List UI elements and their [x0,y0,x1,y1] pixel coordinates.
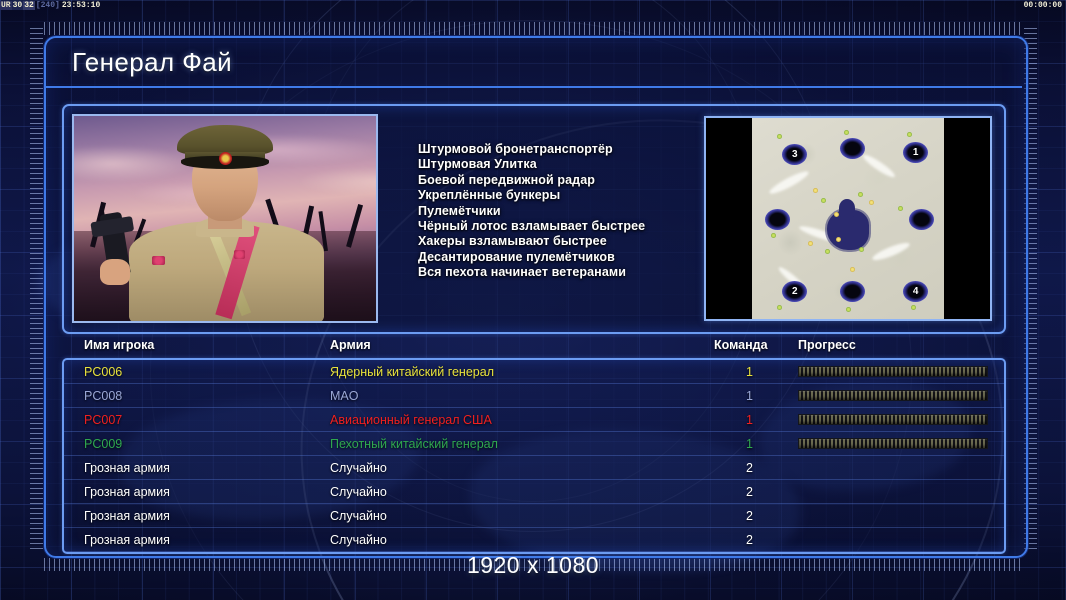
ability-item: Штурмовой бронетранспортёр [418,142,698,157]
player-progress-bar [798,414,988,425]
debug-value-2: 32 [23,1,35,10]
player-team: 2 [746,461,753,475]
player-table: PC006Ядерный китайский генерал1PC008MAO1… [62,358,1006,554]
player-progress-bar [798,390,988,401]
map-resource-node [821,198,826,203]
debug-bracket: [240] [35,1,61,10]
table-row[interactable]: Грозная армияСлучайно2 [64,528,1004,552]
map-start-position [909,209,934,230]
map-resource-node [825,249,830,254]
ability-item: Чёрный лотос взламывает быстрее [418,219,698,234]
map-start-position [840,281,865,302]
player-team: 2 [746,533,753,547]
map-start-position: 3 [782,144,807,165]
ability-item: Штурмовая Улитка [418,157,698,172]
debug-value-1: 30 [12,1,24,10]
debug-right-clock: 00:00:00 [1024,0,1062,11]
map-start-position: 2 [782,281,807,302]
ability-item: Вся пехота начинает ветеранами [418,265,698,280]
column-header-name: Имя игрока [84,338,154,352]
map-start-position [765,209,790,230]
table-row[interactable]: PC007Авиационный генерал США1 [64,408,1004,432]
player-name: PC007 [84,413,122,427]
ability-item: Укреплённые бункеры [418,188,698,203]
player-progress-bar [798,438,988,449]
player-army: Ядерный китайский генерал [330,365,494,379]
debug-prefix: UR [0,1,12,10]
resolution-label: 1920 x 1080 [0,552,1066,579]
ability-item: Боевой передвижной радар [418,173,698,188]
debug-clock: 23:53:10 [61,1,101,10]
player-army: MAO [330,389,358,403]
player-army: Случайно [330,461,387,475]
player-army: Случайно [330,509,387,523]
player-team: 1 [746,365,753,379]
general-abilities-list: Штурмовой бронетранспортёр Штурмовая Ули… [418,142,698,281]
map-center-feature [827,210,869,250]
player-army: Пехотный китайский генерал [330,437,498,451]
player-team: 2 [746,509,753,523]
map-resource-node [907,132,912,137]
player-army: Случайно [330,485,387,499]
general-portrait [72,114,378,323]
player-team: 2 [746,485,753,499]
player-name: PC008 [84,389,122,403]
table-row[interactable]: PC009Пехотный китайский генерал1 [64,432,1004,456]
map-resource-node [869,200,874,205]
table-row[interactable]: PC006Ядерный китайский генерал1 [64,360,1004,384]
map-resource-node [859,247,864,252]
table-row[interactable]: PC008MAO1 [64,384,1004,408]
column-header-progress: Прогресс [798,338,856,352]
ability-item: Хакеры взламывают быстрее [418,234,698,249]
map-resource-node [858,192,863,197]
player-progress-bar [798,366,988,377]
portrait-medal [152,256,165,265]
column-header-army: Армия [330,338,371,352]
portrait-medal [234,250,245,259]
map-start-position: 1 [903,142,928,163]
map-preview[interactable]: 3124 [704,116,992,321]
map-resource-node [844,130,849,135]
map-streak [768,168,811,197]
ability-item: Пулемётчики [418,204,698,219]
map-resource-node [813,188,818,193]
player-name: Грозная армия [84,485,170,499]
player-army: Авиационный генерал США [330,413,492,427]
map-terrain: 3124 [752,118,944,319]
player-rows-host: PC006Ядерный китайский генерал1PC008MAO1… [64,360,1004,552]
player-table-headers: Имя игрока Армия Команда Прогресс [62,338,1006,356]
ability-item: Десантирование пулемётчиков [418,250,698,265]
game-lobby-screen: UR3032[240]23:53:10 00:00:00 Генерал Фай [0,0,1066,600]
map-resource-node [850,267,855,272]
map-resource-node [777,134,782,139]
player-name: Грозная армия [84,533,170,547]
player-name: PC009 [84,437,122,451]
ruler-left [30,28,43,552]
map-resource-node [771,233,776,238]
player-name: Грозная армия [84,461,170,475]
map-resource-node [898,206,903,211]
portrait-hand [100,259,130,285]
ruler-top [44,22,1024,35]
table-row[interactable]: Грозная армияСлучайно2 [64,456,1004,480]
column-header-team: Команда [714,338,768,352]
table-row[interactable]: Грозная армияСлучайно2 [64,480,1004,504]
player-team: 1 [746,389,753,403]
map-resource-node [911,305,916,310]
map-start-position [840,138,865,159]
player-name: Грозная армия [84,509,170,523]
map-resource-node [777,305,782,310]
page-title: Генерал Фай [72,47,232,78]
map-streak [871,239,911,262]
debug-overlay: UR3032[240]23:53:10 00:00:00 [0,0,1066,11]
map-start-position: 4 [903,281,928,302]
map-resource-node [808,241,813,246]
table-row[interactable]: Грозная армияСлучайно2 [64,504,1004,528]
map-resource-node [846,307,851,312]
title-bar: Генерал Фай [46,38,1022,88]
player-name: PC006 [84,365,122,379]
player-army: Случайно [330,533,387,547]
map-streak [861,152,897,180]
portrait-cap-badge [219,152,232,165]
player-team: 1 [746,437,753,451]
player-team: 1 [746,413,753,427]
abilities-ul: Штурмовой бронетранспортёр Штурмовая Ули… [418,142,698,281]
